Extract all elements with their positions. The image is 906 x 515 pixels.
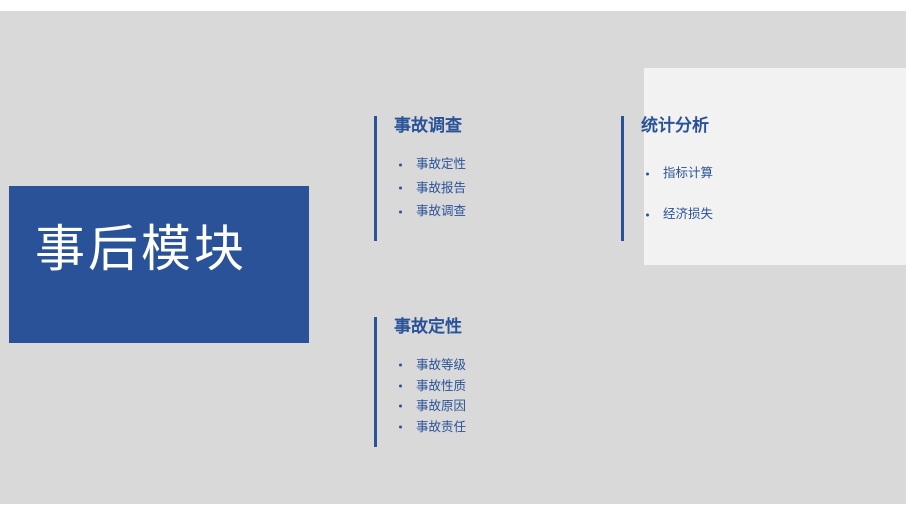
list-item: 事故责任 bbox=[394, 417, 466, 438]
bullet-icon bbox=[399, 405, 402, 408]
list-item-label: 事故等级 bbox=[416, 358, 466, 372]
bullet-icon bbox=[399, 187, 402, 190]
group-investigation: 事故调查 事故定性 事故报告 事故调查 bbox=[374, 116, 574, 241]
list-item-label: 事故责任 bbox=[416, 420, 466, 434]
list-item: 事故性质 bbox=[394, 376, 466, 397]
bullet-icon bbox=[646, 213, 649, 216]
list-item-label: 事故原因 bbox=[416, 399, 466, 413]
list-item: 事故定性 bbox=[394, 153, 466, 177]
group-investigation-title: 事故调查 bbox=[394, 116, 462, 136]
list-item-label: 事故定性 bbox=[416, 157, 466, 171]
list-item-label: 指标计算 bbox=[663, 166, 713, 180]
group-nature-title: 事故定性 bbox=[394, 317, 462, 337]
list-item: 事故等级 bbox=[394, 355, 466, 376]
group-statistics-list: 指标计算 经济损失 bbox=[641, 153, 713, 235]
list-item: 事故原因 bbox=[394, 396, 466, 417]
group-statistics-title: 统计分析 bbox=[641, 116, 709, 136]
main-title-block: 事后模块 bbox=[9, 186, 309, 343]
group-nature: 事故定性 事故等级 事故性质 事故原因 事故责任 bbox=[374, 317, 574, 447]
group-accent-bar bbox=[374, 317, 377, 447]
bullet-icon bbox=[399, 163, 402, 166]
list-item: 指标计算 bbox=[641, 153, 713, 194]
list-item: 事故调查 bbox=[394, 200, 466, 224]
bullet-icon bbox=[399, 425, 402, 428]
list-item-label: 经济损失 bbox=[663, 207, 713, 221]
bullet-icon bbox=[399, 384, 402, 387]
bullet-icon bbox=[646, 172, 649, 175]
group-accent-bar bbox=[374, 116, 377, 241]
main-title: 事后模块 bbox=[35, 224, 247, 274]
list-item: 经济损失 bbox=[641, 194, 713, 235]
bottom-white-band bbox=[0, 504, 906, 515]
list-item-label: 事故调查 bbox=[416, 204, 466, 218]
slide-canvas: 事后模块 事故调查 事故定性 事故报告 事故调查 事故定性 事故等级 事故性质 … bbox=[0, 0, 906, 515]
top-white-band bbox=[0, 0, 906, 11]
group-accent-bar bbox=[621, 116, 624, 241]
list-item-label: 事故性质 bbox=[416, 379, 466, 393]
group-investigation-list: 事故定性 事故报告 事故调查 bbox=[394, 153, 466, 224]
group-statistics: 统计分析 指标计算 经济损失 bbox=[621, 116, 821, 241]
group-nature-list: 事故等级 事故性质 事故原因 事故责任 bbox=[394, 355, 466, 437]
list-item-label: 事故报告 bbox=[416, 181, 466, 195]
list-item: 事故报告 bbox=[394, 177, 466, 201]
bullet-icon bbox=[399, 210, 402, 213]
bullet-icon bbox=[399, 364, 402, 367]
